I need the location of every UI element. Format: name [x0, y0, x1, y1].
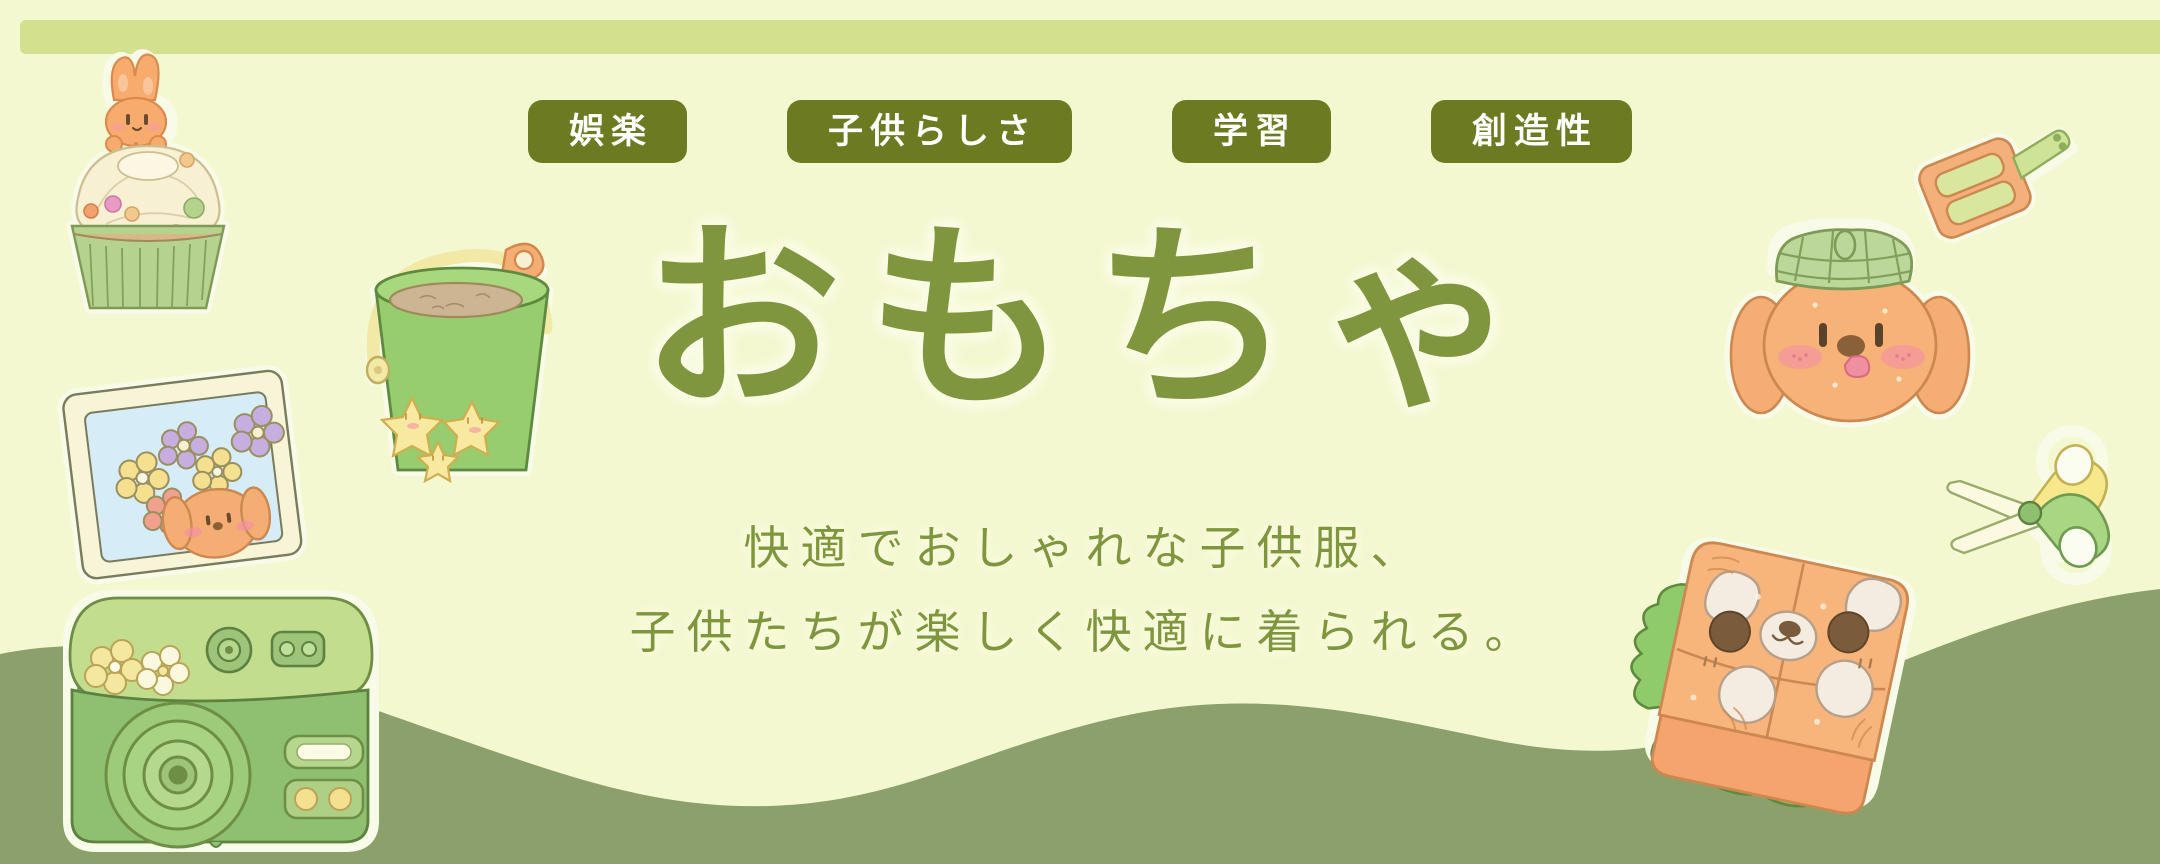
subtitle-line-2: 子供たちが楽しく快適に着られる。 — [0, 609, 2160, 655]
toy-category-banner: 娯楽 子供らしさ 学習 創造性 おもちゃ 快適でおしゃれな子供服、 子供たちが楽… — [0, 0, 2160, 864]
tag-creativity[interactable]: 創造性 — [1431, 100, 1632, 163]
subtitle-line-1: 快適でおしゃれな子供服、 — [0, 525, 2160, 571]
page-title: おもちゃ — [0, 215, 2160, 425]
tag-entertainment[interactable]: 娯楽 — [528, 100, 687, 163]
category-tag-list: 娯楽 子供らしさ 学習 創造性 — [0, 100, 2160, 163]
subtitle-block: 快適でおしゃれな子供服、 子供たちが楽しく快適に着られる。 — [0, 525, 2160, 693]
top-accent-bar — [20, 20, 2160, 54]
tag-childlikeness[interactable]: 子供らしさ — [787, 100, 1072, 163]
tag-learning[interactable]: 学習 — [1172, 100, 1331, 163]
